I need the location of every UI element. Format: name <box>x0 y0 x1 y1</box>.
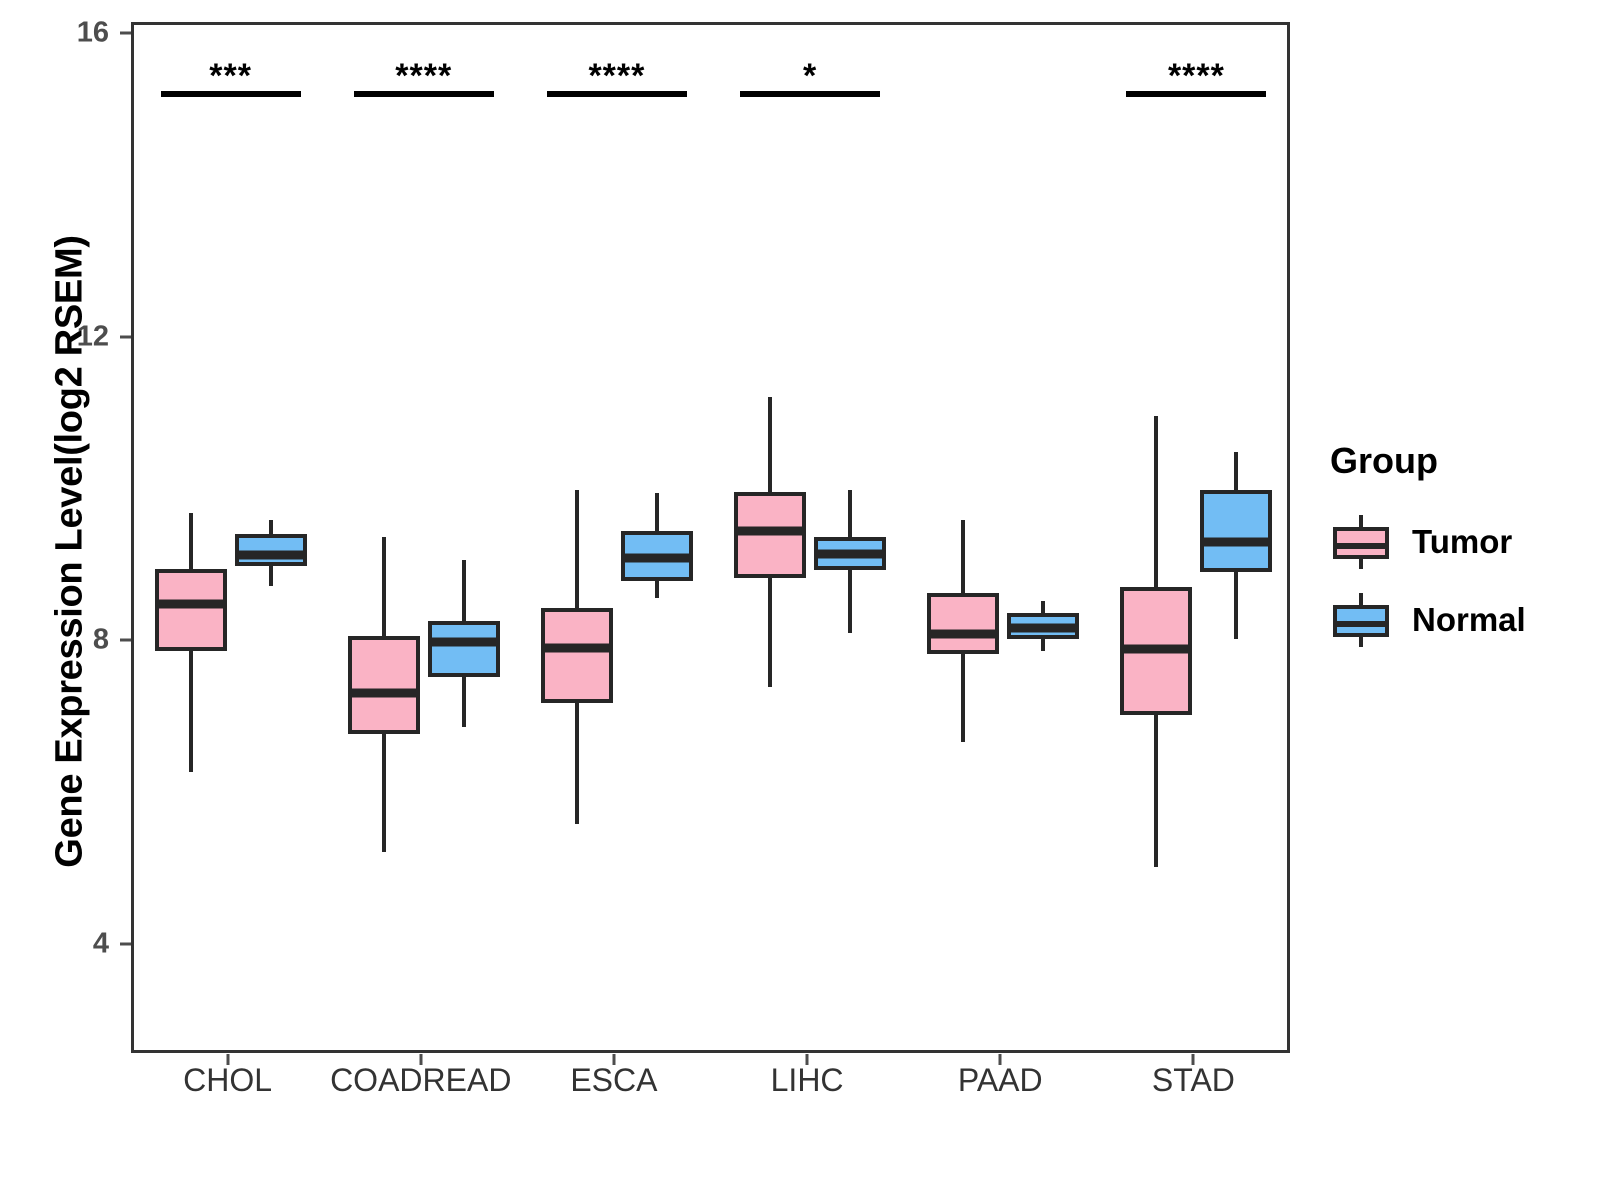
median-line <box>1007 624 1079 633</box>
legend-swatch-tumor <box>1330 511 1392 573</box>
plot-area: **************** <box>134 25 1287 1050</box>
legend-median <box>1333 543 1389 549</box>
median-line <box>348 689 420 698</box>
significance-label-lihc: * <box>803 59 817 93</box>
median-line <box>428 637 500 646</box>
significance-label-esca: **** <box>588 59 645 93</box>
x-axis-tick-label-stad: STAD <box>1152 1062 1235 1099</box>
legend-entries: TumorNormal <box>1330 506 1590 656</box>
x-axis-tick-label-coadread: COADREAD <box>330 1062 511 1099</box>
legend-label: Tumor <box>1412 523 1512 561</box>
legend-swatch-normal <box>1330 589 1392 651</box>
median-line <box>1120 645 1192 654</box>
significance-label-chol: *** <box>209 59 252 93</box>
median-line <box>814 549 886 558</box>
median-line <box>155 599 227 608</box>
significance-label-coadread: **** <box>395 59 452 93</box>
plot-panel: **************** <box>131 22 1290 1053</box>
y-axis-tick-mark <box>120 335 131 338</box>
median-line <box>734 526 806 535</box>
median-line <box>235 551 307 560</box>
y-axis-tick-label: 16 <box>49 17 109 50</box>
y-axis-tick-label: 8 <box>49 624 109 657</box>
x-axis-tick-label-paad: PAAD <box>958 1062 1043 1099</box>
box-iqr <box>541 608 613 702</box>
legend: Group TumorNormal <box>1330 440 1590 662</box>
x-axis-tick-label-esca: ESCA <box>570 1062 657 1099</box>
box-iqr <box>348 636 420 735</box>
legend-median <box>1333 621 1389 627</box>
y-axis-title: Gene Expression Level(log2 RSEM) <box>49 182 92 922</box>
y-axis-tick-mark <box>120 32 131 35</box>
median-line <box>927 630 999 639</box>
median-line <box>621 554 693 563</box>
box-iqr <box>155 569 227 651</box>
box-iqr <box>1200 490 1272 572</box>
significance-label-stad: **** <box>1168 59 1225 93</box>
median-line <box>541 643 613 652</box>
box-iqr <box>927 593 999 654</box>
legend-title: Group <box>1330 440 1590 482</box>
y-axis-tick-label: 4 <box>49 928 109 961</box>
y-axis-tick-label: 12 <box>49 320 109 353</box>
y-axis-tick-mark <box>120 943 131 946</box>
legend-item-tumor[interactable]: Tumor <box>1330 506 1590 578</box>
x-axis-tick-label-chol: CHOL <box>183 1062 272 1099</box>
y-axis-tick-mark <box>120 639 131 642</box>
legend-label: Normal <box>1412 601 1526 639</box>
median-line <box>1200 537 1272 546</box>
x-axis-tick-label-lihc: LIHC <box>771 1062 844 1099</box>
chart-root: Gene Expression Level(log2 RSEM) 481216 … <box>0 0 1600 1200</box>
legend-item-normal[interactable]: Normal <box>1330 584 1590 656</box>
box-iqr <box>428 621 500 677</box>
